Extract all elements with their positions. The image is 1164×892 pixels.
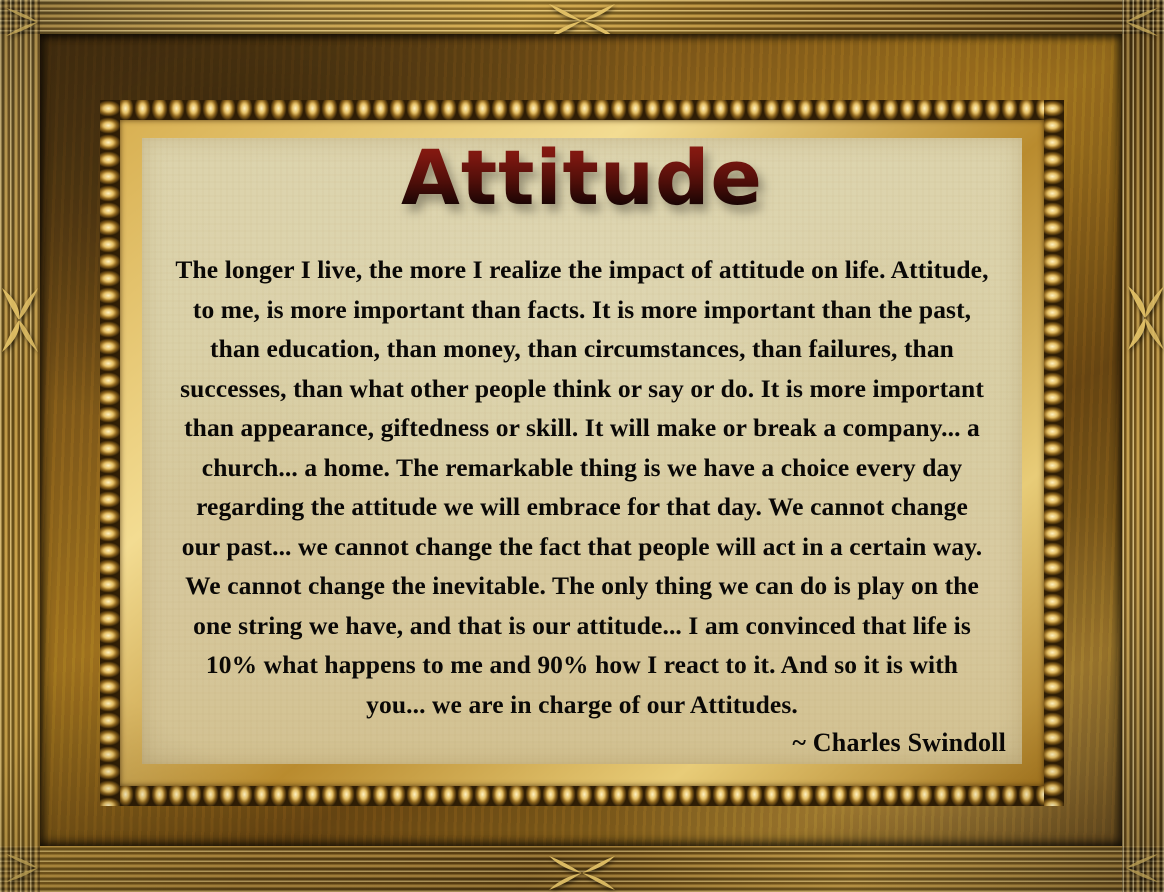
quote-body: The longer I live, the more I realize th…: [156, 250, 1008, 724]
framed-poster: Attitude The longer I live, the more I r…: [0, 0, 1164, 892]
quote-line: one string we have, and that is our atti…: [156, 606, 1008, 646]
poster-title: Attitude: [142, 140, 1022, 216]
quote-line: successes, than what other people think …: [156, 369, 1008, 409]
quote-line: than education, than money, than circums…: [156, 329, 1008, 369]
quote-attribution: ~ Charles Swindoll: [792, 728, 1006, 758]
frame-beaded-border-bottom: [100, 786, 1064, 806]
quote-line: you... we are in charge of our Attitudes…: [156, 685, 1008, 725]
frame-ridge-top: [0, 0, 1164, 34]
poster-canvas: Attitude The longer I live, the more I r…: [142, 138, 1022, 764]
quote-line: our past... we cannot change the fact th…: [156, 527, 1008, 567]
frame-ridge-left: [0, 0, 40, 892]
frame-beaded-border-top: [100, 100, 1064, 120]
frame-ridge-bottom: [0, 846, 1164, 892]
frame-ridge-right: [1122, 0, 1164, 892]
quote-line: 10% what happens to me and 90% how I rea…: [156, 645, 1008, 685]
quote-line: church... a home. The remarkable thing i…: [156, 448, 1008, 488]
quote-line: regarding the attitude we will embrace f…: [156, 487, 1008, 527]
frame-beaded-border-right: [1044, 100, 1064, 806]
quote-line: The longer I live, the more I realize th…: [156, 250, 1008, 290]
quote-line: than appearance, giftedness or skill. It…: [156, 408, 1008, 448]
frame-beaded-border-left: [100, 100, 120, 806]
quote-line: to me, is more important than facts. It …: [156, 290, 1008, 330]
quote-line: We cannot change the inevitable. The onl…: [156, 566, 1008, 606]
